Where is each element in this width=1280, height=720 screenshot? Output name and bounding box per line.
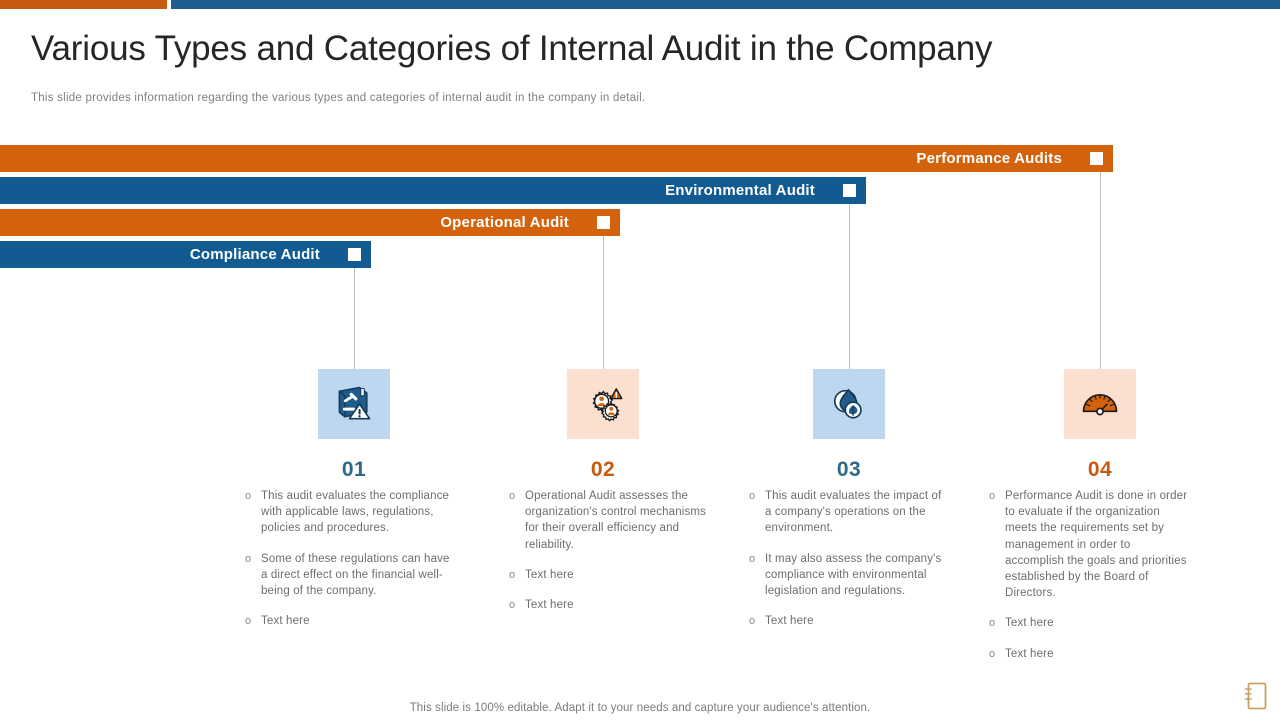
column-02: 02 o Operational Audit assesses the orga…	[567, 369, 639, 482]
bullet-text: Some of these regulations can have a dir…	[261, 551, 455, 600]
bullet-marker-icon: o	[245, 613, 261, 629]
footer-note: This slide is 100% editable. Adapt it to…	[0, 702, 1280, 714]
column-number-02: 02	[567, 458, 639, 482]
banner-label: Environmental Audit	[665, 182, 815, 199]
bullet-text: It may also assess the company's complia…	[765, 551, 949, 600]
bullet-list-02: o Operational Audit assesses the organiz…	[509, 488, 709, 627]
law-book-gavel-warning-icon	[332, 382, 376, 426]
banner-label: Performance Audits	[916, 150, 1062, 167]
bullet-list-04: o Performance Audit is done in order to …	[989, 488, 1189, 676]
bullet-marker-icon: o	[509, 567, 525, 583]
icon-box-01	[318, 369, 390, 439]
top-accent-bar	[0, 0, 1280, 9]
bullet-list-01: o This audit evaluates the compliance wi…	[245, 488, 455, 643]
bullet-marker-icon: o	[245, 551, 261, 600]
bullet-marker-icon: o	[989, 646, 1005, 662]
list-item: o Text here	[509, 567, 709, 583]
list-item: o Operational Audit assesses the organiz…	[509, 488, 709, 553]
bullet-text: Text here	[525, 597, 709, 613]
column-number-01: 01	[318, 458, 390, 482]
banner-label: Compliance Audit	[190, 246, 320, 263]
bullet-text: Text here	[1005, 615, 1189, 631]
list-item: o This audit evaluates the compliance wi…	[245, 488, 455, 537]
bullet-marker-icon: o	[749, 488, 765, 537]
column-04: 04 o Performance Audit is done in order …	[1064, 369, 1136, 482]
bullet-marker-icon: o	[989, 615, 1005, 631]
banner-environmental-audit[interactable]: Environmental Audit	[0, 177, 866, 204]
square-marker-icon	[348, 248, 361, 261]
bullet-list-03: o This audit evaluates the impact of a c…	[749, 488, 949, 643]
list-item: o Text here	[509, 597, 709, 613]
bullet-marker-icon: o	[989, 488, 1005, 601]
bullet-marker-icon: o	[509, 597, 525, 613]
icon-box-03	[813, 369, 885, 439]
bullet-marker-icon: o	[245, 488, 261, 537]
list-item: o Some of these regulations can have a d…	[245, 551, 455, 600]
list-item: o Text here	[989, 615, 1189, 631]
column-03: 03 o This audit evaluates the impact of …	[813, 369, 885, 482]
square-marker-icon	[597, 216, 610, 229]
bullet-text: This audit evaluates the compliance with…	[261, 488, 455, 537]
square-marker-icon	[843, 184, 856, 197]
banner-performance-audits[interactable]: Performance Audits	[0, 145, 1113, 172]
column-number-03: 03	[813, 458, 885, 482]
connector-line-04	[1100, 172, 1101, 369]
list-item: o This audit evaluates the impact of a c…	[749, 488, 949, 537]
list-item: o It may also assess the company's compl…	[749, 551, 949, 600]
bullet-text: Operational Audit assesses the organizat…	[525, 488, 709, 553]
banner-compliance-audit[interactable]: Compliance Audit	[0, 241, 371, 268]
square-marker-icon	[1090, 152, 1103, 165]
list-item: o Performance Audit is done in order to …	[989, 488, 1189, 601]
column-01: 01 o This audit evaluates the compliance…	[318, 369, 390, 482]
top-accent-orange-segment	[0, 0, 167, 9]
page-subtitle: This slide provides information regardin…	[31, 92, 645, 104]
icon-box-04	[1064, 369, 1136, 439]
banner-operational-audit[interactable]: Operational Audit	[0, 209, 620, 236]
top-accent-blue-segment	[171, 0, 1280, 9]
column-number-04: 04	[1064, 458, 1136, 482]
bullet-text: Text here	[765, 613, 949, 629]
connector-line-01	[354, 268, 355, 369]
notebook-icon	[1243, 680, 1269, 717]
bullet-text: Performance Audit is done in order to ev…	[1005, 488, 1189, 601]
icon-box-02	[567, 369, 639, 439]
connector-line-02	[603, 236, 604, 369]
gears-people-warning-icon	[581, 382, 625, 426]
bullet-text: Text here	[261, 613, 455, 629]
connector-line-03	[849, 204, 850, 369]
water-drop-leaf-icon	[827, 382, 871, 426]
banner-label: Operational Audit	[440, 214, 569, 231]
list-item: o Text here	[749, 613, 949, 629]
list-item: o Text here	[989, 646, 1189, 662]
list-item: o Text here	[245, 613, 455, 629]
bullet-marker-icon: o	[749, 613, 765, 629]
bullet-text: Text here	[1005, 646, 1189, 662]
bullet-text: Text here	[525, 567, 709, 583]
gauge-meter-icon	[1078, 382, 1122, 426]
page-title: Various Types and Categories of Internal…	[31, 29, 992, 69]
bullet-marker-icon: o	[749, 551, 765, 600]
bullet-text: This audit evaluates the impact of a com…	[765, 488, 949, 537]
bullet-marker-icon: o	[509, 488, 525, 553]
